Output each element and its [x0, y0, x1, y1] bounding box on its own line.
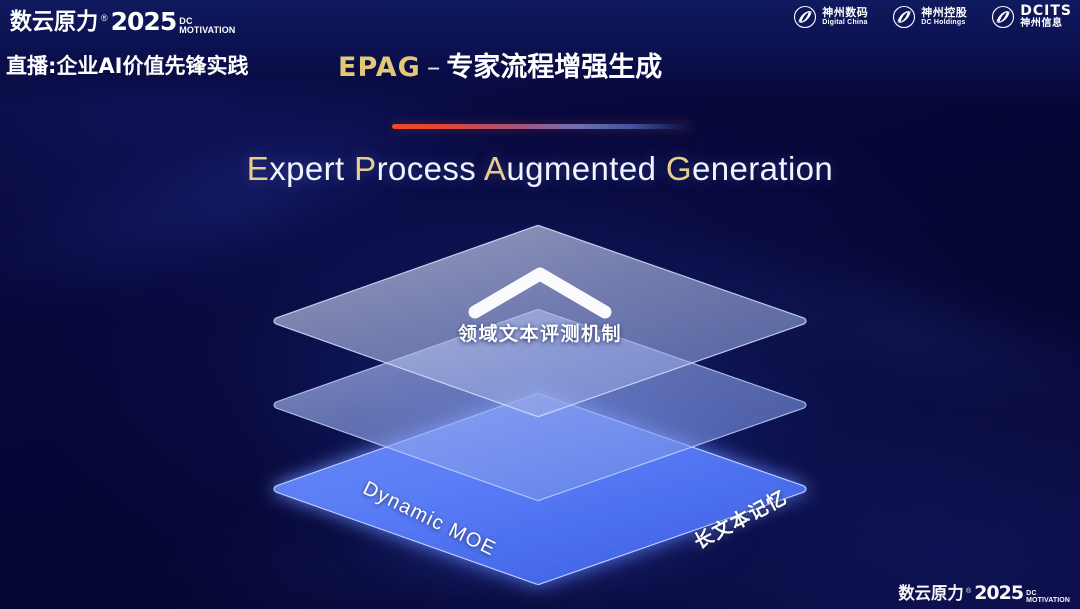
watermark-dc: DC	[1026, 590, 1070, 597]
title-divider	[392, 124, 692, 129]
subtitle-part: ugmented	[506, 150, 666, 187]
watermark-year: 2025	[974, 584, 1023, 603]
partner-text: DCITS 神州信息	[1020, 4, 1072, 29]
watermark-cn: 数云原力	[898, 586, 963, 603]
brand-logo-registered: ®	[101, 14, 108, 23]
watermark-dc-motivation: DC MOTIVATION	[1026, 590, 1070, 604]
slide-title-chinese: 专家流程增强生成	[446, 52, 662, 83]
subtitle-part: xpert	[269, 150, 354, 187]
partner-name-en: DC Holdings	[921, 19, 967, 26]
brand-logo-motivation: MOTIVATION	[179, 26, 235, 35]
brand-logo: 数云原力 ® 2025 DC MOTIVATION	[8, 4, 235, 34]
layer-label-top: 领域文本评测机制	[458, 319, 622, 346]
live-stream-title: 直播:企业AI价值先锋实践	[6, 50, 248, 80]
brand-logo-year: 2025	[111, 9, 177, 34]
slide-title-separator: –	[427, 52, 441, 83]
chevron-up-icon	[465, 264, 615, 322]
header-bar: 数云原力 ® 2025 DC MOTIVATION 直播:企业AI价值先锋实践 …	[0, 0, 1080, 104]
partner-text: 神州数码 Digital China	[822, 7, 868, 26]
subtitle-part: E	[247, 150, 269, 187]
subtitle-part: A	[484, 150, 506, 187]
layered-architecture-diagram: 三类语义建模模块 Dynamic MOE 长文本记忆	[268, 222, 812, 567]
slide-title: EPAG–专家流程增强生成	[338, 52, 662, 84]
subtitle-expert-process-augmented-generation: Expert Process Augmented Generation	[0, 150, 1080, 188]
diagram-layer-top[interactable]: 领域文本评测机制	[268, 222, 812, 452]
brand-logo-dc-motivation: DC MOTIVATION	[179, 17, 235, 35]
partner-text: 神州控股 DC Holdings	[921, 7, 967, 26]
subtitle-part: G	[666, 150, 692, 187]
slide-canvas: 数云原力 ® 2025 DC MOTIVATION 直播:企业AI价值先锋实践 …	[0, 0, 1080, 609]
subtitle-part: rocess	[377, 150, 484, 187]
swoosh-logo-icon	[991, 5, 1015, 29]
swoosh-logo-icon	[892, 5, 916, 29]
watermark-logo: 数云原力 ® 2025 DC MOTIVATION	[897, 584, 1070, 603]
partner-logo-dc-holdings: 神州控股 DC Holdings	[892, 5, 967, 29]
subtitle-part: eneration	[692, 150, 833, 187]
partner-logo-digital-china: 神州数码 Digital China	[793, 5, 868, 29]
slide-title-acronym: EPAG	[338, 52, 421, 83]
swoosh-logo-icon	[793, 5, 817, 29]
partner-name-en: Digital China	[822, 19, 868, 26]
brand-logo-cn: 数云原力	[10, 11, 98, 34]
partner-name-cn: 神州数码	[822, 7, 868, 19]
watermark-registered: ®	[966, 588, 971, 595]
subtitle-part: P	[354, 150, 376, 187]
partner-logo-dcits: DCITS 神州信息	[991, 4, 1072, 29]
partner-logos: 神州数码 Digital China 神州控股 DC Holdings	[793, 4, 1072, 29]
partner-name-cn: 神州控股	[921, 7, 967, 19]
partner-name-cn: DCITS	[1020, 4, 1072, 19]
partner-name-en: 神州信息	[1020, 19, 1072, 30]
watermark-motivation: MOTIVATION	[1026, 597, 1070, 604]
